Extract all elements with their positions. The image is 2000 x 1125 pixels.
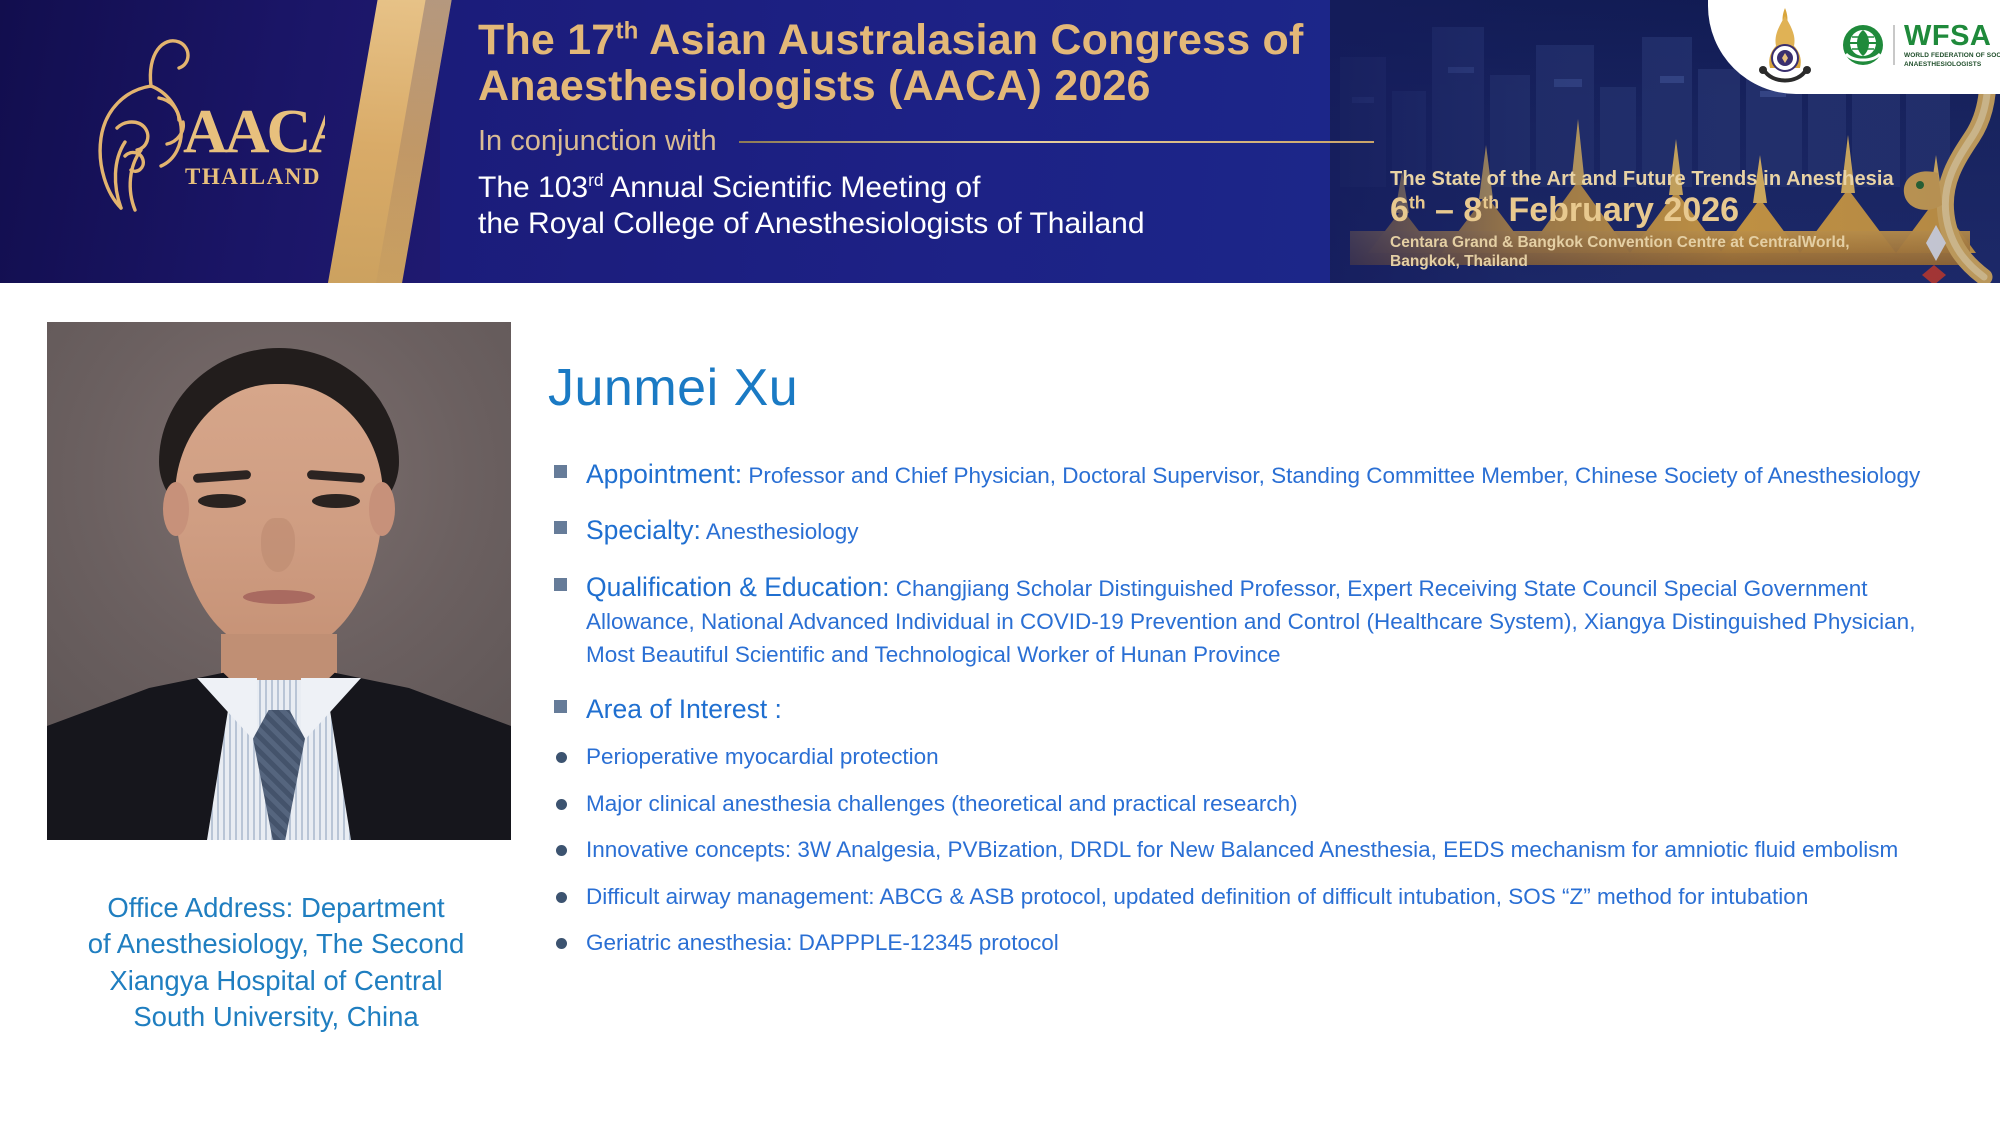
asm-subtitle: The 103rd Annual Scientific Meeting of t… xyxy=(478,170,1378,241)
square-bullet-icon xyxy=(554,700,567,713)
speaker-portrait-photo xyxy=(47,322,511,840)
in-conjunction-row: In conjunction with xyxy=(478,125,1378,158)
bio-item-appointment: Appointment: Professor and Chief Physici… xyxy=(550,455,1950,493)
event-banner: AACA THAILAND 2026 The 17th Asian Austra… xyxy=(0,0,2000,283)
svg-text:AACA: AACA xyxy=(183,98,325,166)
wfsa-logo: WFSA WORLD FEDERATION OF SOCIETIES OF AN… xyxy=(1842,22,2000,68)
gold-rule-divider xyxy=(739,141,1374,143)
portrait-mouth xyxy=(243,590,315,604)
bio-text: Professor and Chief Physician, Doctoral … xyxy=(742,463,1920,488)
bio-item-qualification: Qualification & Education: Changjiang Sc… xyxy=(550,568,1950,672)
portrait-ear-left xyxy=(163,482,189,536)
square-bullet-icon xyxy=(554,521,567,534)
svg-text:THAILAND 2026: THAILAND 2026 xyxy=(185,164,325,189)
bio-label: Area of Interest : xyxy=(586,694,782,724)
address-line-4: South University, China xyxy=(133,1001,418,1032)
event-venue: Centara Grand & Bangkok Convention Centr… xyxy=(1390,234,1910,272)
square-bullet-icon xyxy=(554,465,567,478)
interest-text: Innovative concepts: 3W Analgesia, PVBiz… xyxy=(586,837,1898,862)
square-bullet-icon xyxy=(554,578,567,591)
wfsa-fullname-line2: ANAESTHESIOLOGISTS xyxy=(1904,62,2000,69)
address-line-3: Xiangya Hospital of Central xyxy=(109,965,442,996)
interest-item: Major clinical anesthesia challenges (th… xyxy=(550,788,1950,821)
banner-title-block: The 17th Asian Australasian Congress of … xyxy=(478,18,1378,241)
bio-label: Specialty: xyxy=(586,515,701,545)
bio-item-specialty: Specialty: Anesthesiology xyxy=(550,511,1950,549)
dot-bullet-icon xyxy=(556,845,567,856)
portrait-eye-right xyxy=(312,494,360,508)
wfsa-divider xyxy=(1893,25,1895,65)
wfsa-fullname-line1: WORLD FEDERATION OF SOCIETIES OF xyxy=(1904,53,2000,60)
wfsa-globe-icon xyxy=(1842,24,1884,66)
interest-item: Difficult airway management: ABCG & ASB … xyxy=(550,881,1950,914)
interest-text: Perioperative myocardial protection xyxy=(586,744,939,769)
event-dates: 6th – 8th February 2026 xyxy=(1390,193,1910,229)
in-conjunction-label: In conjunction with xyxy=(478,125,717,158)
event-tagline: The State of the Art and Future Trends i… xyxy=(1390,168,1910,191)
congress-title: The 17th Asian Australasian Congress of … xyxy=(478,18,1378,109)
royal-college-anesthesiologists-thailand-emblem-icon xyxy=(1754,6,1816,88)
office-address: Office Address: Department of Anesthesio… xyxy=(36,890,516,1035)
event-info-block: The State of the Art and Future Trends i… xyxy=(1390,168,1910,272)
interest-item: Innovative concepts: 3W Analgesia, PVBiz… xyxy=(550,834,1950,867)
bio-text: Anesthesiology xyxy=(701,519,859,544)
speaker-bio-list: Appointment: Professor and Chief Physici… xyxy=(550,455,1950,974)
portrait-ear-right xyxy=(369,482,395,536)
sponsor-logo-patch: WFSA WORLD FEDERATION OF SOCIETIES OF AN… xyxy=(1708,0,2000,94)
portrait-nose xyxy=(261,518,295,572)
interest-text: Major clinical anesthesia challenges (th… xyxy=(586,791,1298,816)
speaker-name: Junmei Xu xyxy=(548,358,798,418)
dot-bullet-icon xyxy=(556,892,567,903)
interest-text: Difficult airway management: ABCG & ASB … xyxy=(586,884,1808,909)
bio-item-area-of-interest: Area of Interest : xyxy=(550,690,1950,728)
dot-bullet-icon xyxy=(556,799,567,810)
wfsa-text-block: WFSA WORLD FEDERATION OF SOCIETIES OF AN… xyxy=(1904,22,2000,68)
interest-item: Perioperative myocardial protection xyxy=(550,741,1950,774)
aaca-logo: AACA THAILAND 2026 xyxy=(55,24,325,244)
interest-text: Geriatric anesthesia: DAPPPLE-12345 prot… xyxy=(586,930,1059,955)
address-line-1: Office Address: Department xyxy=(107,892,444,923)
dot-bullet-icon xyxy=(556,938,567,949)
aaca-elephant-icon: AACA THAILAND 2026 xyxy=(55,24,325,244)
interest-item: Geriatric anesthesia: DAPPPLE-12345 prot… xyxy=(550,927,1950,960)
address-line-2: of Anesthesiology, The Second xyxy=(88,928,465,959)
wfsa-acronym: WFSA xyxy=(1904,22,2000,51)
dot-bullet-icon xyxy=(556,752,567,763)
bio-label: Appointment: xyxy=(586,459,742,489)
portrait-eye-left xyxy=(198,494,246,508)
bio-label: Qualification & Education: xyxy=(586,572,889,602)
